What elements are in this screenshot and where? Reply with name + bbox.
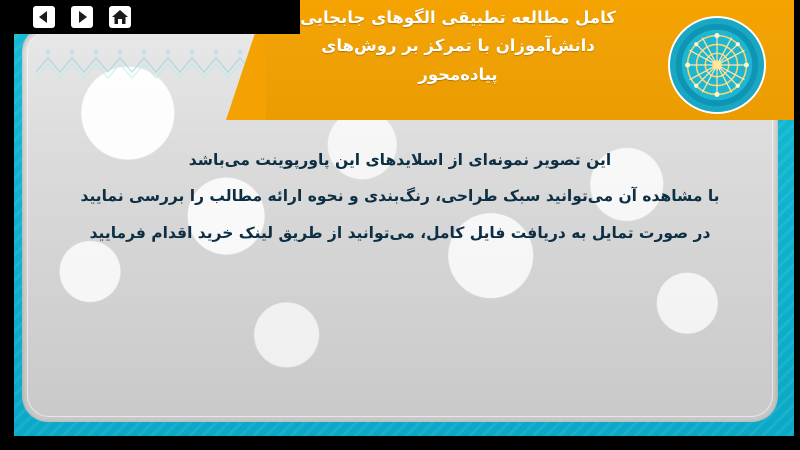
- ornamental-medallion-icon: [668, 16, 766, 114]
- bottom-black-bar: [0, 436, 800, 450]
- title-line-3: پیاده‌محور: [276, 61, 640, 89]
- slide-canvas: این تصویر نمونه‌ای از اسلایدهای این پاور…: [0, 0, 800, 450]
- previous-slide-button[interactable]: [32, 5, 56, 29]
- slide-body-text: این تصویر نمونه‌ای از اسلایدهای این پاور…: [62, 142, 738, 251]
- body-line-3: در صورت تمایل به دریافت فایل کامل، می‌تو…: [62, 215, 738, 251]
- navigation-bar: [0, 0, 300, 34]
- home-button[interactable]: [108, 5, 132, 29]
- previous-arrow-icon: [33, 6, 55, 28]
- body-line-2: با مشاهده آن می‌توانید سبک طراحی، رنگ‌بن…: [62, 178, 738, 214]
- next-arrow-icon: [71, 6, 93, 28]
- title-line-2: دانش‌آموزان با تمرکز بر روش‌های: [276, 32, 640, 60]
- next-slide-button[interactable]: [70, 5, 94, 29]
- body-line-1: این تصویر نمونه‌ای از اسلایدهای این پاور…: [62, 142, 738, 178]
- left-black-bar: [0, 0, 14, 450]
- slide-title: کامل مطالعه تطبیقی الگوهای جابجایی دانش‌…: [266, 4, 650, 89]
- home-icon: [109, 6, 131, 28]
- title-line-1: کامل مطالعه تطبیقی الگوهای جابجایی: [276, 4, 640, 32]
- right-black-bar: [794, 0, 800, 450]
